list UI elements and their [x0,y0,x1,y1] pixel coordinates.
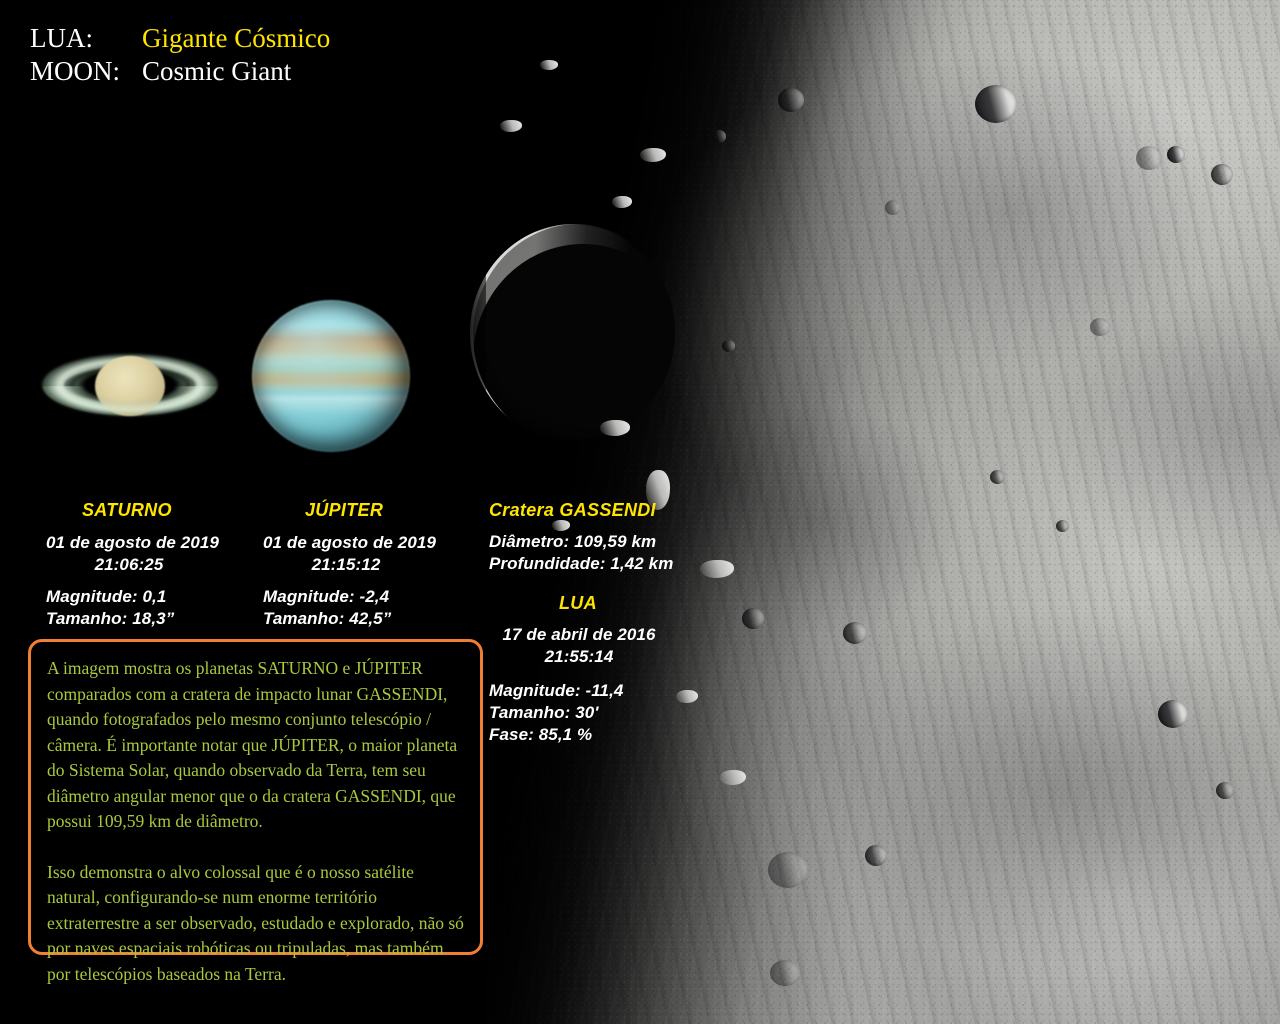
crater-mark [1158,700,1188,728]
moon-time-line: 21:55:14 [545,647,614,666]
jupiter-heading: JÚPITER [305,500,383,521]
title-pt-value: Gigante Cósmico [142,22,330,55]
gassendi-stats: Diâmetro: 109,59 km Profundidade: 1,42 k… [489,531,673,575]
saturn-size: Tamanho: 18,3” [46,609,174,628]
crater-mark [990,470,1005,484]
crater-mark [1056,520,1069,532]
gassendi-heading: Cratera GASSENDI [489,500,656,521]
gassendi-crater-rim [468,222,680,444]
jupiter-date-line: 01 de agosto de 2019 [263,533,436,552]
saturn-stats: Magnitude: 0,1 Tamanho: 18,3” [46,586,174,630]
description-box: A imagem mostra os planetas SATURNO e JÚ… [28,639,483,955]
jupiter-stats: Magnitude: -2,4 Tamanho: 42,5” [263,586,391,630]
jupiter-datetime: 01 de agosto de 2019 21:15:12 [263,532,429,576]
title-portuguese: LUA: Gigante Cósmico [30,22,330,55]
moon-datetime: 17 de abril de 2016 21:55:14 [489,624,669,668]
saturn-image [40,330,220,440]
jupiter-time-line: 21:15:12 [312,555,381,574]
title-pt-label: LUA: [30,22,142,55]
moon-magnitude: Magnitude: -11,4 [489,681,623,700]
crater-mark [742,608,764,629]
saturn-date-line: 01 de agosto de 2019 [46,533,219,552]
crater-mark [843,622,867,644]
moon-date-line: 17 de abril de 2016 [502,625,655,644]
description-paragraph-1: A imagem mostra os planetas SATURNO e JÚ… [47,656,464,835]
crater-mark [885,200,901,215]
moon-stats: Magnitude: -11,4 Tamanho: 30' Fase: 85,1… [489,680,623,746]
crater-mark [865,845,887,866]
crater-mark [778,88,804,112]
crater-mark [1167,146,1185,163]
description-paragraph-2: Isso demonstra o alvo colossal que é o n… [47,860,464,988]
crater-mark [975,85,1017,123]
saturn-datetime: 01 de agosto de 2019 21:06:25 [46,532,212,576]
gassendi-depth: Profundidade: 1,42 km [489,554,673,573]
crater-mark [1211,164,1233,185]
saturn-magnitude: Magnitude: 0,1 [46,587,166,606]
jupiter-magnitude: Magnitude: -2,4 [263,587,389,606]
crater-mark [712,130,726,143]
crater-mark [770,960,800,986]
crater-mark [722,340,735,352]
moon-phase: Fase: 85,1 % [489,725,592,744]
title-block: LUA: Gigante Cósmico MOON: Cosmic Giant [30,22,330,88]
saturn-time-line: 21:06:25 [95,555,164,574]
title-english: MOON: Cosmic Giant [30,55,330,88]
title-en-label: MOON: [30,55,142,88]
saturn-heading: SATURNO [82,500,172,521]
jupiter-limb-darkening [252,300,410,452]
moon-size: Tamanho: 30' [489,703,598,722]
moon-heading: LUA [559,593,597,614]
crater-mark [1090,318,1110,336]
title-en-value: Cosmic Giant [142,55,291,88]
jupiter-size: Tamanho: 42,5” [263,609,391,628]
gassendi-diameter: Diâmetro: 109,59 km [489,532,656,551]
crater-mark [1216,782,1234,799]
crater-mark [1136,146,1162,170]
crater-mark [768,852,808,888]
